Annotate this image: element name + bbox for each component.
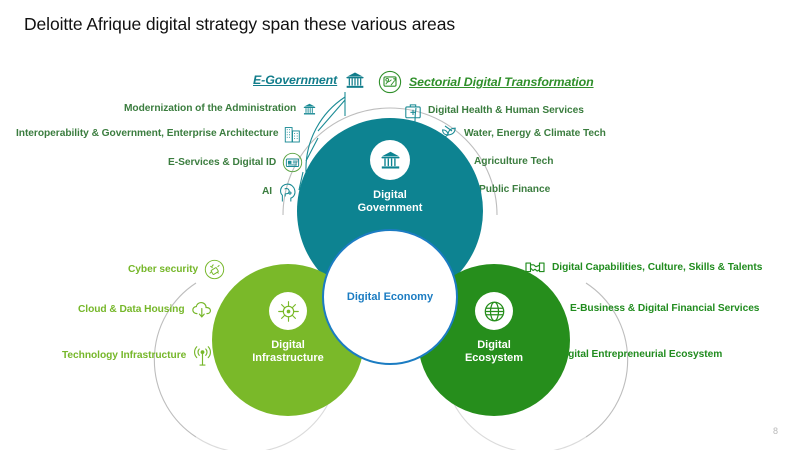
spoke-technology-infrastructure[interactable]: Technology Infrastructure [62,345,213,367]
spoke-label: Cyber security [128,264,198,275]
spoke-digital-health-human-services[interactable]: Digital Health & Human Services [404,102,584,120]
spoke-label: Water, Energy & Climate Tech [464,128,606,139]
cyber-lock-icon [204,259,225,280]
section-header-sectorial-digital-transformation: Sectorial Digital Transformation [378,70,594,94]
spoke-label: Modernization of the Administration [124,103,296,114]
spoke-label: Digital Health & Human Services [428,105,584,116]
antenna-icon [192,345,213,367]
spoke-cloud-data-housing[interactable]: Cloud & Data Housing [78,300,213,319]
lobe-label: Digital Infrastructure [252,339,324,366]
spoke-modernization-of-the-administration[interactable]: Modernization of the Administration [124,102,317,116]
section-header-label: E-Government [253,73,337,87]
hub-digital-economy[interactable]: Digital Economy [322,229,458,365]
cloud-download-icon [191,300,213,319]
globe-icon [483,300,506,323]
ship-wheel-icon [277,300,300,323]
spoke-label: Interoperability & Government, Enterpris… [16,128,278,139]
page-number: 8 [773,426,778,436]
spoke-label: E-Business & Digital Financial Services [570,303,759,314]
page-title: Deloitte Afrique digital strategy span t… [24,14,455,35]
spoke-ai[interactable]: AI [262,180,297,203]
spoke-digital-capabilities-culture-skills-talents[interactable]: Digital Capabilities, Culture, Skills & … [524,259,762,277]
spoke-label: Public Finance [479,184,550,195]
section-header-e-government: E-Government [253,70,366,90]
spoke-e-business-digital-financial-services[interactable]: E-Business & Digital Financial Services [542,300,759,317]
spoke-label: Agriculture Tech [474,156,553,167]
buildings-icon [284,124,301,143]
sector-transformation-icon [378,70,402,94]
slide-canvas: Deloitte Afrique digital strategy span t… [0,0,800,450]
bank-icon [302,102,317,116]
lobe-label: Digital Government [358,189,423,216]
medical-bag-icon [404,102,422,120]
spoke-interoperability-government-enterprise-architecture[interactable]: Interoperability & Government, Enterpris… [16,124,301,143]
spoke-label: Digital Entrepreneurial Ecosystem [558,349,722,360]
lobe-icon-container [370,140,410,180]
section-header-label: Sectorial Digital Transformation [409,75,594,89]
bank-icon [344,70,366,90]
spoke-label: Digital Capabilities, Culture, Skills & … [552,262,762,273]
spoke-label: Technology Infrastructure [62,350,186,361]
stem-interoperability [318,100,345,131]
spoke-label: AI [262,186,272,197]
ai-head-icon [278,180,297,203]
spoke-water-energy-climate-tech[interactable]: Water, Energy & Climate Tech [438,125,606,143]
lobe-icon-container [269,292,307,330]
spoke-label: E-Services & Digital ID [168,157,276,168]
bank-icon [379,149,402,171]
lobe-label: Digital Ecosystem [465,339,523,366]
lobe-icon-container [475,292,513,330]
spoke-cyber-security[interactable]: Cyber security [128,259,225,280]
hub-label: Digital Economy [347,291,433,303]
spoke-e-services-digital-id[interactable]: E-Services & Digital ID [168,152,303,173]
id-card-icon [282,152,303,173]
spoke-label: Cloud & Data Housing [78,304,185,315]
